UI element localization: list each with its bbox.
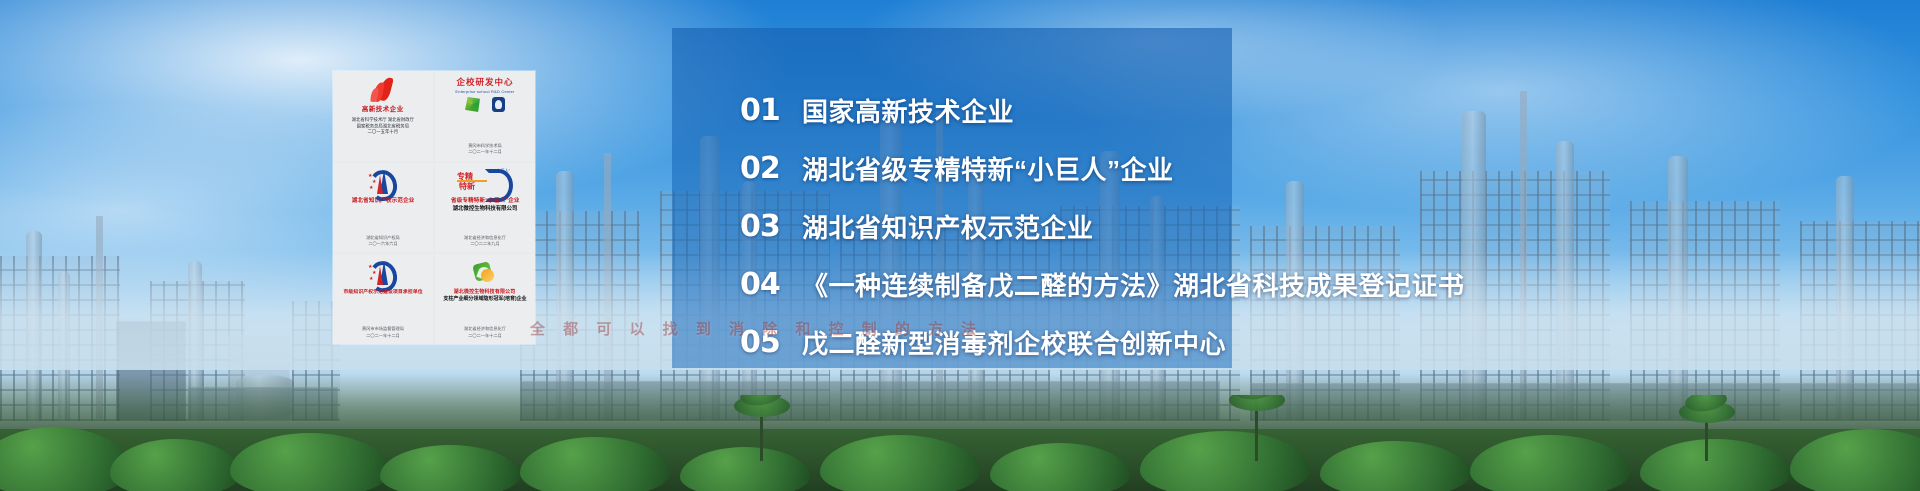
flame-icon (371, 76, 395, 104)
ip-star-icon: ★ ★ ★ (368, 259, 398, 287)
certificate-card-ip-demo-city[interactable]: ★ ★ ★ 市级知识产权示范建设项目承担单位 黄冈市市场监督管理局 二〇二一年十… (333, 254, 433, 344)
honor-number: 02 (740, 151, 802, 186)
certificate-date: 二〇二一年十二月 (468, 149, 502, 155)
certificate-title: 市级知识产权示范建设项目承担单位 (343, 290, 422, 296)
hubei-weikong-logo-icon (465, 97, 480, 112)
certificate-date: 二〇一六年六月 (366, 241, 400, 247)
certificate-card-specialized-sme[interactable]: 专精特新 "小巨人" 省级专精特新“小巨人”企业 湖北微控生物科技有限公司 湖北… (435, 163, 535, 253)
rd-title-en: Enterprise school R&D Center (455, 89, 514, 94)
certificate-issuer: 湖北省经济和信息化厅 二〇二一年十二月 (464, 326, 506, 341)
honor-item-02[interactable]: 02 湖北省级专精特新“小巨人”企业 (740, 144, 1740, 192)
enterprise-rd-icon: 企校研发中心 Enterprise school R&D Center (455, 76, 514, 112)
honor-number: 05 (740, 325, 802, 360)
certificate-company: 湖北微控生物科技有限公司 (453, 205, 518, 213)
certificate-card-high-tech[interactable]: 高新技术企业 湖北省科学技术厅 湖北省财政厅 国家税务总局湖北省税务局 二〇一五… (333, 71, 433, 161)
certificate-issuer: 湖北省科学技术厅 湖北省财政厅 国家税务总局湖北省税务局 二〇一五年十月 (352, 117, 414, 136)
certificate-issuer: 湖北省经济和信息化厅 二〇二二年九月 (464, 235, 506, 250)
vegetation (0, 395, 1920, 491)
certificate-date: 二〇二一年十二月 (362, 333, 404, 339)
banner-stage: 高新技术企业 湖北省科学技术厅 湖北省财政厅 国家税务总局湖北省税务局 二〇一五… (0, 0, 1920, 491)
certificate-title: 湖北省知识产权示范企业 (352, 198, 415, 205)
certificate-date: 二〇二二年九月 (464, 241, 506, 247)
certificate-issuer: 黄冈市市场监督管理局 二〇二一年十二月 (362, 326, 404, 341)
rd-title-cn: 企校研发中心 (456, 76, 513, 88)
honor-item-04[interactable]: 04 《一种连续制备戊二醛的方法》湖北省科技成果登记证书 (740, 260, 1740, 308)
huanggang-normal-university-logo-icon (492, 97, 505, 112)
issuer-line-1: 黄冈市市场监督管理局 (362, 326, 404, 332)
honor-list: 01 国家高新技术企业 02 湖北省级专精特新“小巨人”企业 03 湖北省知识产… (740, 86, 1740, 376)
zjtx-icon: 专精特新 "小巨人" (457, 168, 513, 196)
honor-label: 国家高新技术企业 (802, 92, 1014, 129)
honor-number: 03 (740, 209, 802, 244)
certificate-title: 省级专精特新“小巨人”企业 (451, 198, 520, 205)
green-recycle-icon (472, 259, 498, 287)
ip-star-icon: ★ ★ ★ (368, 168, 398, 196)
rd-partner-logos (465, 97, 505, 112)
certificate-card-rd-center[interactable]: 企校研发中心 Enterprise school R&D Center 黄冈市科… (435, 71, 535, 161)
honor-label: 《一种连续制备戊二醛的方法》湖北省科技成果登记证书 (802, 266, 1465, 303)
certificate-date: 二〇一五年十月 (352, 130, 414, 136)
certificate-issuer: 黄冈市科学技术局 二〇二一年十二月 (468, 143, 502, 158)
certificate-title: 湖北微控生物科技有限公司 (454, 290, 516, 296)
certificate-grid: 高新技术企业 湖北省科学技术厅 湖北省财政厅 国家税务总局湖北省税务局 二〇一五… (333, 71, 535, 344)
honor-item-03[interactable]: 03 湖北省知识产权示范企业 (740, 202, 1740, 250)
certificate-title: 高新技术企业 (362, 106, 404, 114)
certificate-card-pillar-industry[interactable]: 湖北微控生物科技有限公司 支柱产业细分领域隐形冠军(培育)企业 湖北省经济和信息… (435, 254, 535, 344)
certificate-date: 二〇二一年十二月 (464, 333, 506, 339)
issuer-line-1: 湖北省经济和信息化厅 (464, 326, 506, 332)
honor-label: 湖北省级专精特新“小巨人”企业 (802, 150, 1174, 187)
honor-label: 戊二醛新型消毒剂企校联合创新中心 (802, 324, 1226, 361)
honor-item-01[interactable]: 01 国家高新技术企业 (740, 86, 1740, 134)
honor-number: 01 (740, 93, 802, 128)
certificate-company: 支柱产业细分领域隐形冠军(培育)企业 (443, 296, 526, 304)
honor-label: 湖北省知识产权示范企业 (802, 208, 1094, 245)
certificate-card-ip-demo-province[interactable]: ★ ★ ★ 湖北省知识产权示范企业 湖北省知识产权局 二〇一六年六月 (333, 163, 433, 253)
honor-number: 04 (740, 267, 802, 302)
certificate-issuer: 湖北省知识产权局 二〇一六年六月 (366, 235, 400, 250)
honor-item-05[interactable]: 05 戊二醛新型消毒剂企校联合创新中心 (740, 318, 1740, 366)
